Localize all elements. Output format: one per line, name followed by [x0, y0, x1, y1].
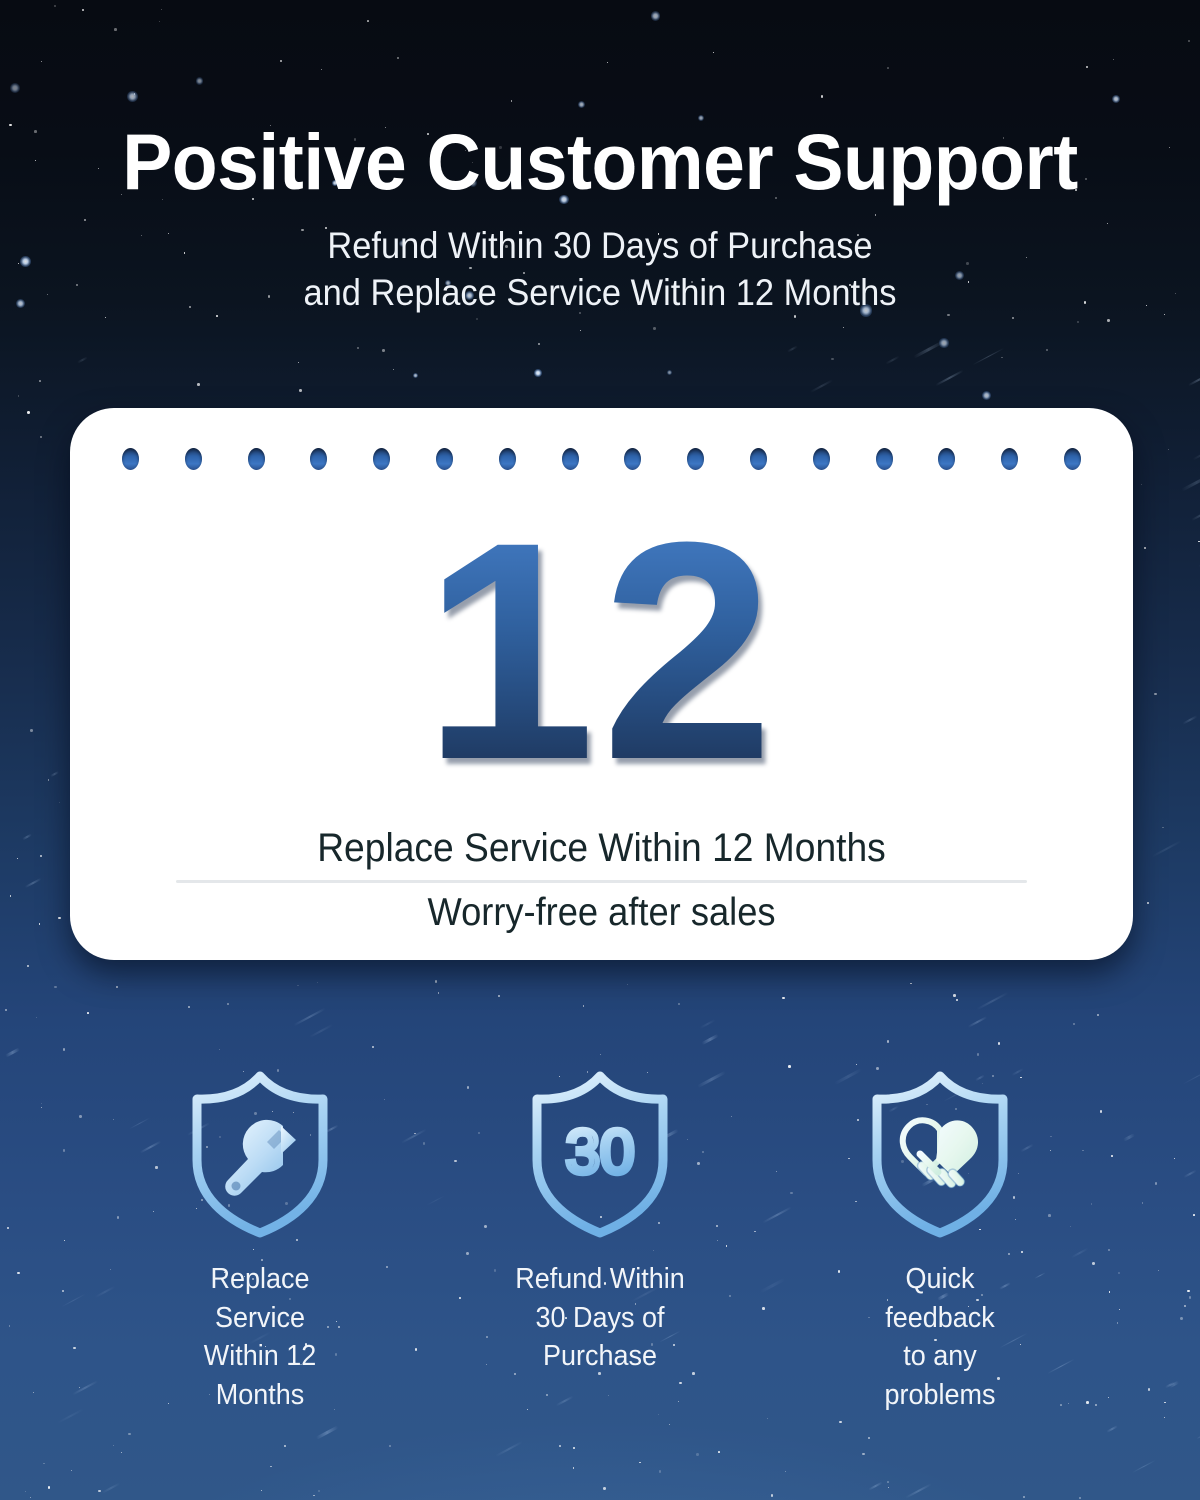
star: [1107, 319, 1110, 322]
star: [476, 318, 478, 320]
page-subtitle: Refund Within 30 Days of Purchase and Re…: [42, 223, 1158, 316]
star: [10, 895, 12, 897]
star: [956, 999, 958, 1001]
punch-hole: [813, 448, 830, 470]
star-streak: [1132, 1460, 1155, 1473]
star: [1001, 357, 1003, 359]
star-streak: [309, 1024, 333, 1038]
star-streak: [1188, 373, 1200, 385]
star: [317, 982, 318, 983]
star: [782, 997, 784, 999]
subtitle-line-2: and Replace Service Within 12 Months: [42, 270, 1158, 317]
star: [1046, 349, 1048, 351]
shield-handshake-icon: [860, 1068, 1020, 1240]
star-streak: [101, 1482, 120, 1494]
star-streak: [977, 992, 1009, 1010]
star: [888, 1487, 889, 1488]
punch-hole: [624, 448, 641, 470]
star: [580, 330, 581, 331]
star: [1079, 1497, 1081, 1499]
star: [603, 1487, 606, 1490]
star-streak: [810, 380, 833, 394]
star: [58, 917, 61, 920]
star: [718, 1451, 720, 1453]
star: [1023, 1496, 1025, 1498]
star: [856, 1064, 857, 1065]
star: [559, 1445, 561, 1447]
star: [18, 395, 20, 397]
star: [843, 327, 845, 329]
star-streak: [50, 771, 59, 777]
star: [868, 1437, 870, 1439]
star-streak: [1192, 450, 1200, 461]
star: [30, 1497, 31, 1498]
star: [1144, 547, 1146, 549]
star-streak: [905, 1483, 931, 1498]
punch-hole: [876, 448, 893, 470]
star-streak: [1181, 474, 1200, 492]
punch-hole: [122, 448, 139, 470]
star: [382, 349, 385, 352]
star: [116, 986, 119, 989]
star: [659, 1470, 661, 1472]
bright-star: [939, 338, 948, 347]
star: [669, 1424, 670, 1425]
star: [188, 1006, 190, 1008]
star: [98, 1490, 101, 1493]
punch-hole: [562, 448, 579, 470]
star-streak: [913, 340, 944, 358]
star: [298, 362, 299, 363]
star: [953, 994, 956, 997]
star: [39, 380, 41, 382]
promo-poster: Positive Customer Support Refund Within …: [0, 0, 1200, 1500]
star: [71, 1470, 72, 1471]
star: [128, 1433, 130, 1435]
star: [197, 383, 200, 386]
star-streak: [24, 877, 41, 887]
star: [627, 984, 628, 985]
card-subcaption: Worry-free after sales: [107, 891, 1096, 935]
bright-star: [982, 391, 991, 400]
star-streak: [701, 1034, 718, 1045]
star: [678, 1003, 680, 1005]
star: [43, 1463, 45, 1465]
star: [1162, 827, 1163, 828]
star: [998, 1042, 1001, 1045]
bright-star: [534, 369, 542, 377]
star: [17, 858, 18, 859]
badge-quick-feedback: Quick feedback to any problems: [842, 1068, 1038, 1414]
star: [767, 1418, 768, 1419]
star: [639, 1462, 641, 1464]
badge-label: Replace Service Within 12 Months: [169, 1260, 351, 1414]
star: [87, 1012, 89, 1014]
star: [1141, 484, 1142, 485]
star: [696, 1453, 699, 1456]
star: [887, 1481, 889, 1483]
star: [54, 986, 56, 988]
star: [389, 1445, 391, 1447]
star: [48, 1486, 51, 1489]
punch-hole: [436, 448, 453, 470]
star: [372, 1046, 374, 1048]
star: [5, 1009, 7, 1011]
star: [498, 995, 500, 997]
star-streak: [699, 1019, 715, 1029]
star: [299, 389, 302, 392]
star-streak: [1191, 505, 1200, 520]
card-divider: [176, 880, 1027, 883]
punch-hole: [185, 448, 202, 470]
star: [357, 347, 360, 350]
star: [25, 1491, 26, 1492]
page-title: Positive Customer Support: [30, 122, 1170, 201]
star-streak: [1151, 841, 1181, 858]
star: [438, 992, 440, 994]
star: [40, 855, 42, 857]
star: [393, 369, 394, 370]
badge-refund: 30 Refund Within 30 Days of Purchase: [502, 1068, 698, 1414]
star: [573, 1467, 575, 1469]
star: [1154, 693, 1157, 696]
star: [27, 965, 29, 967]
badge-label: Quick feedback to any problems: [849, 1260, 1031, 1414]
star: [36, 1017, 37, 1018]
star-streak: [495, 1441, 522, 1457]
star: [1147, 902, 1149, 904]
star: [977, 1053, 980, 1056]
punch-hole: [687, 448, 704, 470]
punch-hole: [499, 448, 516, 470]
punch-hole: [310, 448, 327, 470]
star: [63, 1048, 65, 1050]
punch-hole-row: [70, 448, 1133, 474]
star: [887, 1040, 890, 1043]
star: [538, 343, 541, 346]
punch-hole: [750, 448, 767, 470]
shield-wrench-icon: [180, 1068, 340, 1240]
star: [1073, 1023, 1075, 1025]
star-streak: [316, 1426, 339, 1440]
star: [910, 983, 912, 985]
star: [270, 1466, 272, 1468]
star: [771, 1494, 774, 1497]
punch-hole: [938, 448, 955, 470]
star: [600, 1054, 601, 1055]
star: [785, 1471, 786, 1472]
star: [227, 1003, 229, 1005]
shield-30-icon: 30: [520, 1068, 680, 1240]
star: [297, 985, 299, 987]
star-streak: [1106, 1426, 1117, 1433]
star: [1168, 449, 1170, 451]
star: [113, 1445, 114, 1446]
star: [1012, 317, 1014, 319]
star-streak: [968, 1016, 987, 1027]
punch-hole: [1001, 448, 1018, 470]
punch-hole: [373, 448, 390, 470]
star: [1164, 1417, 1165, 1418]
star-streak: [6, 1047, 21, 1056]
star: [313, 1495, 315, 1497]
star: [1097, 1014, 1099, 1016]
star: [862, 1453, 865, 1456]
star-streak: [77, 356, 88, 363]
star-streak: [1182, 715, 1197, 725]
star: [435, 980, 437, 982]
badge-replace-service: Replace Service Within 12 Months: [162, 1068, 358, 1414]
star-streak: [787, 346, 798, 353]
star: [59, 802, 60, 803]
star: [48, 779, 49, 780]
punch-hole: [248, 448, 265, 470]
star: [219, 1049, 220, 1050]
star: [39, 923, 40, 924]
star: [1077, 321, 1079, 323]
star: [653, 327, 656, 330]
card-caption: Replace Service Within 12 Months: [107, 826, 1096, 871]
calendar-card: 12 Replace Service Within 12 Months Worr…: [70, 408, 1133, 960]
punch-hole: [1064, 448, 1081, 470]
star-streak: [885, 355, 899, 364]
star-streak: [294, 1008, 326, 1026]
big-number: 12: [70, 496, 1133, 806]
star-streak: [935, 370, 963, 386]
star: [583, 1005, 585, 1007]
header: Positive Customer Support Refund Within …: [0, 0, 1200, 316]
star: [573, 1447, 575, 1449]
shield-30-text: 30: [566, 1118, 635, 1187]
badge-label: Refund Within 30 Days of Purchase: [509, 1260, 691, 1376]
star: [121, 1452, 122, 1453]
bright-star: [667, 370, 672, 375]
star: [831, 358, 833, 360]
bright-star: [413, 373, 419, 379]
star: [261, 1490, 262, 1491]
star-streak: [868, 1481, 882, 1490]
badge-row: Replace Service Within 12 Months 30 R: [0, 1068, 1200, 1414]
star: [318, 1490, 320, 1492]
star: [30, 729, 33, 732]
star: [839, 1421, 842, 1424]
star: [284, 1445, 286, 1447]
star: [27, 411, 30, 414]
star-streak: [22, 834, 31, 840]
star: [105, 317, 106, 318]
subtitle-line-1: Refund Within 30 Days of Purchase: [42, 223, 1158, 270]
star-streak: [973, 348, 1004, 366]
star: [40, 436, 43, 439]
